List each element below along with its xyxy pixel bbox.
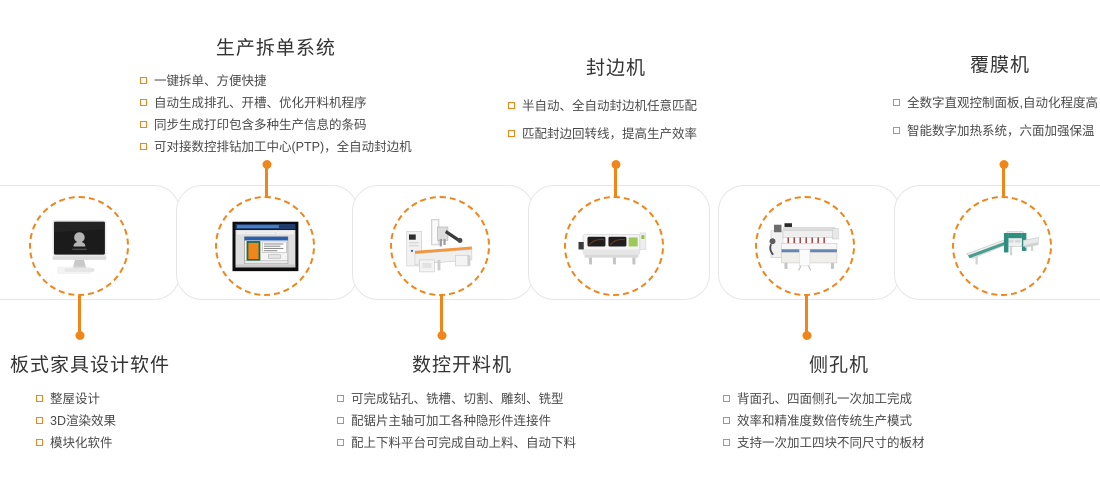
- block-feature-list: 可完成钻孔、铣槽、切割、雕刻、铣型 配锯片主轴可加工各种隐形件连接件 配上下料平…: [337, 388, 587, 454]
- block-feature-list: 半自动、全自动封边机任意匹配 匹配封边回转线，提高生产效率: [508, 92, 724, 148]
- connector-dot: [999, 160, 1008, 169]
- node-laminating-machine[interactable]: [952, 196, 1052, 296]
- list-item: 可对接数控排钻加工中心(PTP)，全自动封边机: [140, 136, 412, 158]
- block-title: 侧孔机: [723, 355, 955, 378]
- edge-banding-machine-icon: [577, 209, 652, 284]
- node-production-order-system[interactable]: [215, 196, 315, 296]
- connector-design-software: [78, 292, 81, 337]
- square-bullet-icon: [893, 99, 900, 106]
- list-item: 一键拆单、方便快捷: [140, 70, 412, 92]
- square-bullet-icon: [723, 395, 730, 402]
- square-bullet-icon: [36, 417, 43, 424]
- square-bullet-icon: [723, 439, 730, 446]
- connector-cnc-cutting-machine: [440, 292, 443, 337]
- list-item: 模块化软件: [36, 432, 170, 454]
- node-design-software[interactable]: [29, 196, 129, 296]
- list-item: 智能数字加热系统，六面加强保温: [893, 117, 1100, 145]
- block-feature-list: 全数字直观控制面板,自动化程度高 智能数字加热系统，六面加强保温: [893, 89, 1100, 145]
- block-feature-list: 整屋设计 3D渲染效果 模块化软件: [36, 388, 170, 454]
- text-block-edge-banding-machine: 封边机 半自动、全自动封边机任意匹配 匹配封边回转线，提高生产效率: [508, 58, 724, 148]
- square-bullet-icon: [140, 99, 147, 106]
- connector-dot: [262, 160, 271, 169]
- square-bullet-icon: [337, 439, 344, 446]
- text-block-panel-furniture-design-software: 板式家具设计软件 整屋设计 3D渲染效果 模块化软件: [10, 355, 170, 454]
- block-title: 覆膜机: [893, 55, 1100, 78]
- block-title: 封边机: [508, 58, 724, 81]
- list-item: 自动生成排孔、开槽、优化开料机程序: [140, 92, 412, 114]
- side-hole-drilling-machine-icon: [768, 209, 843, 284]
- flow-diagram: 生产拆单系统 一键拆单、方便快捷 自动生成排孔、开槽、优化开料机程序 同步生成打…: [0, 0, 1100, 495]
- list-item: 匹配封边回转线，提高生产效率: [508, 120, 724, 148]
- connector-dot: [802, 331, 811, 340]
- block-title: 数控开料机: [337, 355, 587, 378]
- square-bullet-icon: [140, 121, 147, 128]
- list-item: 3D渲染效果: [36, 410, 170, 432]
- laptop-cad-software-icon: [228, 209, 303, 284]
- list-item: 同步生成打印包含多种生产信息的条码: [140, 114, 412, 136]
- connector-dot: [75, 331, 84, 340]
- text-block-production-order-system: 生产拆单系统 一键拆单、方便快捷 自动生成排孔、开槽、优化开料机程序 同步生成打…: [140, 38, 412, 158]
- cnc-router-machine-icon: [403, 209, 478, 284]
- desktop-computer-icon: [42, 209, 117, 284]
- list-item: 全数字直观控制面板,自动化程度高: [893, 89, 1100, 117]
- square-bullet-icon: [337, 417, 344, 424]
- list-item: 可完成钻孔、铣槽、切割、雕刻、铣型: [337, 388, 587, 410]
- node-cnc-cutting-machine[interactable]: [390, 196, 490, 296]
- text-block-laminating-machine: 覆膜机 全数字直观控制面板,自动化程度高 智能数字加热系统，六面加强保温: [893, 55, 1100, 145]
- square-bullet-icon: [140, 77, 147, 84]
- block-feature-list: 背面孔、四面侧孔一次加工完成 效率和精准度数倍传统生产模式 支持一次加工四块不同…: [723, 388, 955, 454]
- block-feature-list: 一键拆单、方便快捷 自动生成排孔、开槽、优化开料机程序 同步生成打印包含多种生产…: [140, 70, 412, 158]
- square-bullet-icon: [893, 127, 900, 134]
- square-bullet-icon: [36, 439, 43, 446]
- connector-dot: [611, 160, 620, 169]
- laminating-machine-icon: [965, 209, 1040, 284]
- list-item: 整屋设计: [36, 388, 170, 410]
- list-item: 支持一次加工四块不同尺寸的板材: [723, 432, 955, 454]
- block-title: 板式家具设计软件: [10, 355, 170, 378]
- square-bullet-icon: [36, 395, 43, 402]
- connector-dot: [437, 331, 446, 340]
- node-side-hole-machine[interactable]: [755, 196, 855, 296]
- list-item: 效率和精准度数倍传统生产模式: [723, 410, 955, 432]
- block-title: 生产拆单系统: [140, 38, 412, 61]
- list-item: 配锯片主轴可加工各种隐形件连接件: [337, 410, 587, 432]
- connector-side-hole-machine: [805, 292, 808, 337]
- list-item: 半自动、全自动封边机任意匹配: [508, 92, 724, 120]
- square-bullet-icon: [508, 102, 515, 109]
- square-bullet-icon: [508, 130, 515, 137]
- square-bullet-icon: [723, 417, 730, 424]
- text-block-cnc-cutting-machine: 数控开料机 可完成钻孔、铣槽、切割、雕刻、铣型 配锯片主轴可加工各种隐形件连接件…: [337, 355, 587, 454]
- square-bullet-icon: [337, 395, 344, 402]
- text-block-side-hole-machine: 侧孔机 背面孔、四面侧孔一次加工完成 效率和精准度数倍传统生产模式 支持一次加工…: [723, 355, 955, 454]
- square-bullet-icon: [140, 143, 147, 150]
- list-item: 配上下料平台可完成自动上料、自动下料: [337, 432, 587, 454]
- node-edge-banding-machine[interactable]: [564, 196, 664, 296]
- list-item: 背面孔、四面侧孔一次加工完成: [723, 388, 955, 410]
